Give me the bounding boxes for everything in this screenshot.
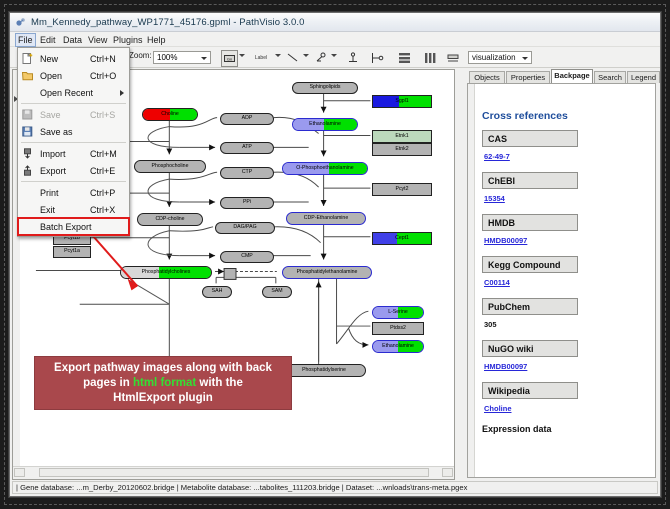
distribute-button[interactable] — [422, 50, 438, 65]
node-label: CMP — [241, 254, 253, 259]
pathway-node-phosphocholine[interactable]: Phosphocholine — [134, 160, 206, 173]
annotation-callout: Export pathway images along with back pa… — [34, 356, 292, 410]
distribute-icon — [424, 52, 437, 64]
panel-left-rail — [468, 84, 475, 477]
pathway-node-sgpl1[interactable]: Sgpl1 — [372, 95, 432, 108]
window-title: Mm_Kennedy_pathway_WP1771_45176.gpml - P… — [31, 17, 305, 28]
tab-legend[interactable]: Legend — [627, 71, 660, 83]
datanode-icon: Gn — [224, 54, 235, 63]
pathvisio-window: Mm_Kennedy_pathway_WP1771_45176.gpml - P… — [9, 12, 661, 497]
xref-label-wikipedia: Wikipedia — [482, 382, 578, 399]
node-label: Cept1 — [395, 236, 409, 241]
pathway-node-sphingolipids[interactable]: Sphingolipids — [292, 82, 358, 94]
file-menu-item-import[interactable]: ImportCtrl+M — [18, 145, 129, 162]
menu-separator — [21, 103, 126, 104]
pathway-node-ptdss2[interactable]: Ptdss2 — [372, 322, 424, 335]
backpage-content: Cross references CAS 62-49-7 ChEBI 15354… — [467, 83, 656, 478]
align-top-icon — [347, 52, 359, 64]
menu-separator — [21, 142, 126, 143]
menu-item-shortcut: Ctrl+E — [90, 166, 115, 176]
pathway-node-sah[interactable]: SAH — [202, 286, 232, 298]
menu-item-label: Import — [40, 149, 66, 159]
zoom-value: 100% — [157, 53, 177, 62]
common-width-icon — [447, 52, 459, 63]
line-tool-button[interactable] — [286, 50, 300, 65]
node-label: Ethanolamine — [382, 344, 414, 349]
scroll-right-button[interactable] — [442, 468, 453, 477]
file-menu-item-export[interactable]: ExportCtrl+E — [18, 162, 129, 179]
menu-item-label: Export — [40, 166, 66, 176]
pathway-node-l-serine[interactable]: L-Serine — [372, 306, 424, 319]
interaction-tool-button[interactable] — [314, 50, 328, 65]
save-as-icon — [22, 126, 33, 137]
scroll-thumb[interactable] — [39, 468, 429, 477]
tab-search[interactable]: Search — [594, 71, 626, 83]
callout-line3: HtmlExport plugin — [113, 392, 213, 404]
node-fill-left — [373, 233, 397, 244]
visualization-value: visualization — [472, 53, 516, 62]
pathway-node-cdp-ethanolamine[interactable]: CDP-Ethanolamine — [286, 212, 366, 225]
callout-line1: Export pathway images along with back — [54, 362, 272, 374]
node-label: Ptdss2 — [390, 326, 406, 331]
menu-separator — [21, 181, 126, 182]
pathway-node-pcyt2[interactable]: Pcyt2 — [372, 183, 432, 196]
xref-value-pubchem: 305 — [484, 320, 497, 329]
node-label: CDP-choline — [155, 217, 184, 222]
menu-item-shortcut: Ctrl+M — [90, 149, 117, 159]
menu-item-label: Save — [40, 110, 61, 120]
menu-item-shortcut: Ctrl+O — [90, 71, 116, 81]
menu-bar: File Edit Data View Plugins Help — [10, 32, 660, 47]
cross-references-title: Cross references — [482, 110, 568, 122]
pathway-node-etnk1[interactable]: Etnk1 — [372, 130, 432, 143]
pathway-node-dag-pag[interactable]: DAG/PAG — [215, 222, 275, 234]
xref-label-cas: CAS — [482, 130, 578, 147]
tab-backpage[interactable]: Backpage — [551, 69, 593, 83]
callout-line2-post: with the — [196, 377, 243, 389]
stack-center-button[interactable] — [396, 50, 412, 65]
datanode-tool-button[interactable]: Gn — [221, 50, 238, 67]
node-label: PPi — [243, 200, 251, 205]
new-file-icon — [22, 53, 33, 64]
xref-value-chebi[interactable]: 15354 — [484, 194, 505, 203]
file-menu-item-new[interactable]: NewCtrl+N — [18, 50, 129, 67]
title-bar: Mm_Kennedy_pathway_WP1771_45176.gpml - P… — [10, 13, 660, 32]
align-left-button[interactable] — [370, 50, 386, 65]
line-icon — [287, 52, 299, 63]
menu-item-label: Open Recent — [40, 88, 93, 98]
stack-center-icon — [398, 52, 411, 64]
node-label: Choline — [161, 112, 179, 117]
pathway-node-pcyt1a[interactable]: Pcyt1a — [53, 246, 91, 258]
label-icon: Label — [255, 55, 267, 61]
menu-item-shortcut: Ctrl+P — [90, 188, 115, 198]
chevron-down-icon — [201, 57, 207, 60]
receptor-icon — [315, 52, 327, 63]
align-left-icon — [371, 52, 385, 64]
menu-plugins[interactable]: Plugins — [110, 34, 146, 46]
pathway-node-adp[interactable]: ADP — [220, 113, 274, 125]
tab-properties[interactable]: Properties — [506, 71, 550, 83]
datanode-dropdown-icon[interactable] — [239, 54, 245, 57]
pathway-node-phosphatidylcholines[interactable]: Phosphatidylcholines — [120, 266, 212, 279]
expression-data-title: Expression data — [482, 424, 552, 434]
node-label: O-Phosphoethanolamine — [296, 166, 353, 171]
file-menu-item-print[interactable]: PrintCtrl+P — [18, 184, 129, 201]
xref-value-nugo-wiki[interactable]: HMDB00097 — [484, 362, 527, 371]
xref-value-wikipedia[interactable]: Choline — [484, 404, 512, 413]
node-label: Sphingolipids — [310, 85, 341, 90]
pathvisio-app-icon — [15, 17, 26, 28]
interaction-dropdown-icon[interactable] — [331, 54, 337, 57]
pathway-node-phosphatidylserine[interactable]: Phosphatidylserine — [282, 364, 366, 377]
node-label: SAM — [271, 289, 282, 294]
node-label: CTP — [242, 170, 252, 175]
pathway-node-ppi[interactable]: PPi — [220, 197, 274, 209]
menu-file[interactable]: File — [15, 33, 36, 47]
node-label: Pcyt1b — [64, 236, 80, 241]
file-menu-item-batch-export[interactable]: Batch Export — [18, 218, 129, 235]
pathway-node-etnk2[interactable]: Etnk2 — [372, 143, 432, 156]
menu-item-label: Print — [40, 188, 59, 198]
pathway-node-o-phosphoethanolamine[interactable]: O-Phosphoethanolamine — [282, 162, 368, 175]
menu-item-label: Batch Export — [40, 222, 92, 232]
node-label: Pcyt2 — [396, 187, 409, 192]
node-label: Pcyt1a — [64, 249, 80, 254]
callout-line2-pre: pages in — [83, 377, 133, 389]
pathway-node-ctp[interactable]: CTP — [220, 167, 274, 179]
zoom-label: Zoom: — [129, 51, 152, 60]
common-width-button[interactable] — [446, 50, 460, 65]
visualization-combobox[interactable]: visualization — [468, 51, 532, 64]
file-menu-item-open-recent[interactable]: Open Recent — [18, 84, 129, 101]
zoom-combobox[interactable]: 100% — [153, 51, 211, 64]
side-panel-tabstrip: Objects Properties Backpage Search Legen… — [467, 69, 658, 83]
xref-label-chebi: ChEBI — [482, 172, 578, 189]
align-top-button[interactable] — [346, 50, 360, 65]
node-label: Sgpl1 — [395, 99, 408, 104]
xref-label-nugo-wiki: NuGO wiki — [482, 340, 578, 357]
menu-item-label: Open — [40, 71, 62, 81]
menu-item-shortcut: Ctrl+X — [90, 205, 115, 215]
menu-item-shortcut: Ctrl+N — [90, 54, 116, 64]
pathway-node-cdp-choline[interactable]: CDP-choline — [137, 213, 203, 226]
import-icon — [22, 148, 33, 159]
pathway-node-ethanolamine[interactable]: Ethanolamine — [292, 118, 358, 131]
node-label: Etnk1 — [395, 134, 408, 139]
menu-edit[interactable]: Edit — [37, 34, 59, 46]
save-icon — [22, 109, 33, 120]
xref-label-kegg-compound: Kegg Compound — [482, 256, 578, 273]
file-menu-item-save-as[interactable]: Save as — [18, 123, 129, 140]
xref-value-cas[interactable]: 62-49-7 — [484, 152, 510, 161]
node-label: Phosphatidylserine — [302, 368, 346, 373]
export-icon — [22, 165, 33, 176]
line-dropdown-icon[interactable] — [303, 54, 309, 57]
pathway-node-choline[interactable]: Choline — [142, 108, 198, 121]
xref-label-hmdb: HMDB — [482, 214, 578, 231]
menu-item-label: New — [40, 54, 58, 64]
scroll-left-button[interactable] — [14, 468, 25, 477]
node-label: Ethanolamine — [309, 122, 341, 127]
node-label: Phosphatidylcholines — [142, 270, 191, 275]
canvas-horizontal-scrollbar[interactable] — [13, 466, 454, 479]
status-bar: | Gene database: ...m_Derby_20120602.bri… — [12, 481, 658, 494]
file-menu-item-exit[interactable]: ExitCtrl+X — [18, 201, 129, 218]
node-label: L-Serine — [388, 310, 408, 315]
label-dropdown-icon[interactable] — [275, 54, 281, 57]
menu-item-label: Save as — [40, 127, 73, 137]
side-panel: Objects Properties Backpage Search Legen… — [459, 69, 658, 480]
pathway-node-ethanolamine2[interactable]: Ethanolamine — [372, 340, 424, 353]
menu-item-shortcut: Ctrl+S — [90, 110, 115, 120]
pathway-node-phosphatidylethanolamine[interactable]: Phosphatidylethanolamine — [282, 266, 372, 279]
screenshot-root: Mm_Kennedy_pathway_WP1771_45176.gpml - P… — [0, 0, 670, 509]
node-label: SAH — [212, 289, 223, 294]
node-label: Etnk2 — [395, 147, 408, 152]
file-menu-item-open[interactable]: OpenCtrl+O — [18, 67, 129, 84]
menu-help[interactable]: Help — [144, 34, 169, 46]
node-label: Phosphocholine — [152, 164, 189, 169]
xref-value-kegg-compound[interactable]: C00114 — [484, 278, 510, 287]
open-folder-icon — [22, 70, 33, 81]
node-label: ADP — [242, 116, 253, 121]
status-bar-text: | Gene database: ...m_Derby_20120602.bri… — [16, 483, 467, 492]
xref-value-hmdb[interactable]: HMDB00097 — [484, 236, 527, 245]
callout-line2-highlight: html format — [133, 377, 196, 389]
menu-view[interactable]: View — [85, 34, 110, 46]
submenu-arrow-icon — [120, 90, 124, 96]
node-label: ATP — [242, 145, 252, 150]
label-tool-button[interactable]: Label — [250, 50, 272, 65]
chevron-down-icon — [522, 57, 528, 60]
node-label: CDP-Ethanolamine — [304, 216, 348, 221]
node-label: DAG/PAG — [233, 225, 256, 230]
node-label: Phosphatidylethanolamine — [297, 270, 358, 275]
pathway-node-cept1[interactable]: Cept1 — [372, 232, 432, 245]
pathway-node-sam[interactable]: SAM — [262, 286, 292, 298]
file-menu-item-save[interactable]: SaveCtrl+S — [18, 106, 129, 123]
menu-data[interactable]: Data — [60, 34, 85, 46]
xref-label-pubchem: PubChem — [482, 298, 578, 315]
pathway-node-atp[interactable]: ATP — [220, 142, 274, 154]
svg-text:Gn: Gn — [227, 56, 232, 61]
file-dropdown-menu[interactable]: NewCtrl+NOpenCtrl+OOpen RecentSaveCtrl+S… — [17, 47, 130, 237]
pathway-node-cmp[interactable]: CMP — [220, 251, 274, 263]
menu-item-label: Exit — [40, 205, 55, 215]
tab-objects[interactable]: Objects — [469, 71, 505, 83]
